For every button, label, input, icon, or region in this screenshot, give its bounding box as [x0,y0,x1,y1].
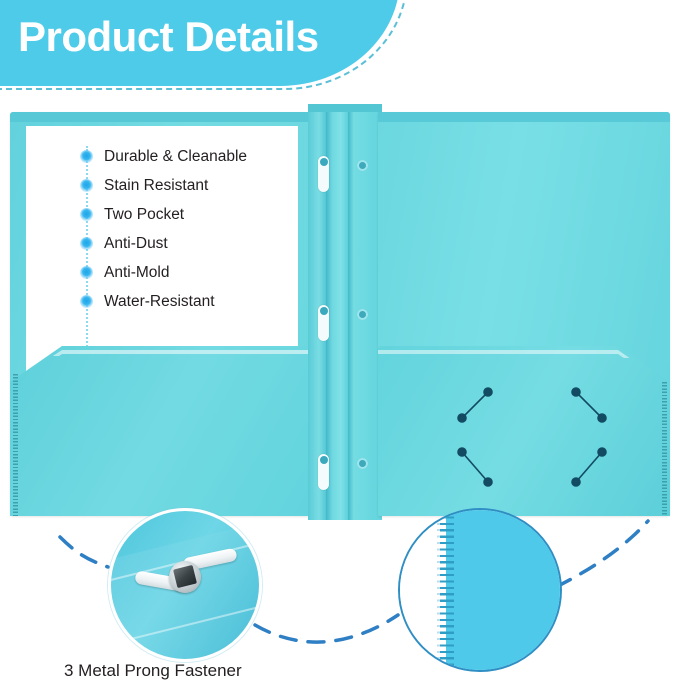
punch-hole [357,458,368,469]
feature-item: Anti-Dust [56,229,296,258]
bullet-dot-icon [80,179,93,192]
folder-left-pocket [10,346,310,516]
feature-list: Durable & Cleanable Stain Resistant Two … [56,142,296,316]
left-pocket-stitch-seam [13,374,18,516]
bullet-dot-icon [80,237,93,250]
feature-label: Water-Resistant [104,293,215,311]
page-title: Product Details [18,13,319,61]
feature-label: Anti-Mold [104,264,169,282]
feature-item: Water-Resistant [56,287,296,316]
seam-material-fill [446,510,560,670]
spine-segment [332,108,348,520]
seam-zoom-circle [398,508,562,672]
metal-prong-fastener [318,305,329,341]
folder-illustration: Durable & Cleanable Stain Resistant Two … [0,104,679,524]
card-slot-marks [440,372,630,492]
punch-hole [357,309,368,320]
feature-label: Stain Resistant [104,177,208,195]
folder-left-panel-top-edge [10,112,310,122]
fastener-caption: 3 Metal Prong Fastener [64,661,242,681]
seam-stitch-pattern [440,510,454,670]
bullet-dot-icon [80,208,93,221]
right-pocket-stitch-seam [662,382,667,516]
metal-prong-fastener [318,156,329,192]
feature-item: Durable & Cleanable [56,142,296,171]
punch-hole [357,160,368,171]
metal-prong-fastener [318,454,329,490]
bullet-dot-icon [80,295,93,308]
product-details-image: Product Details Durable & Cleanable Stai… [0,0,679,693]
spine-top-edge [308,104,382,112]
feature-label: Durable & Cleanable [104,148,247,166]
bullet-dot-icon [80,150,93,163]
feature-item: Two Pocket [56,200,296,229]
feature-label: Anti-Dust [104,235,168,253]
feature-item: Anti-Mold [56,258,296,287]
header-banner: Product Details [0,0,470,100]
feature-item: Stain Resistant [56,171,296,200]
feature-label: Two Pocket [104,206,184,224]
folder-right-panel-top-edge [378,112,670,122]
fastener-zoom-circle [108,508,262,662]
bullet-dot-icon [80,266,93,279]
